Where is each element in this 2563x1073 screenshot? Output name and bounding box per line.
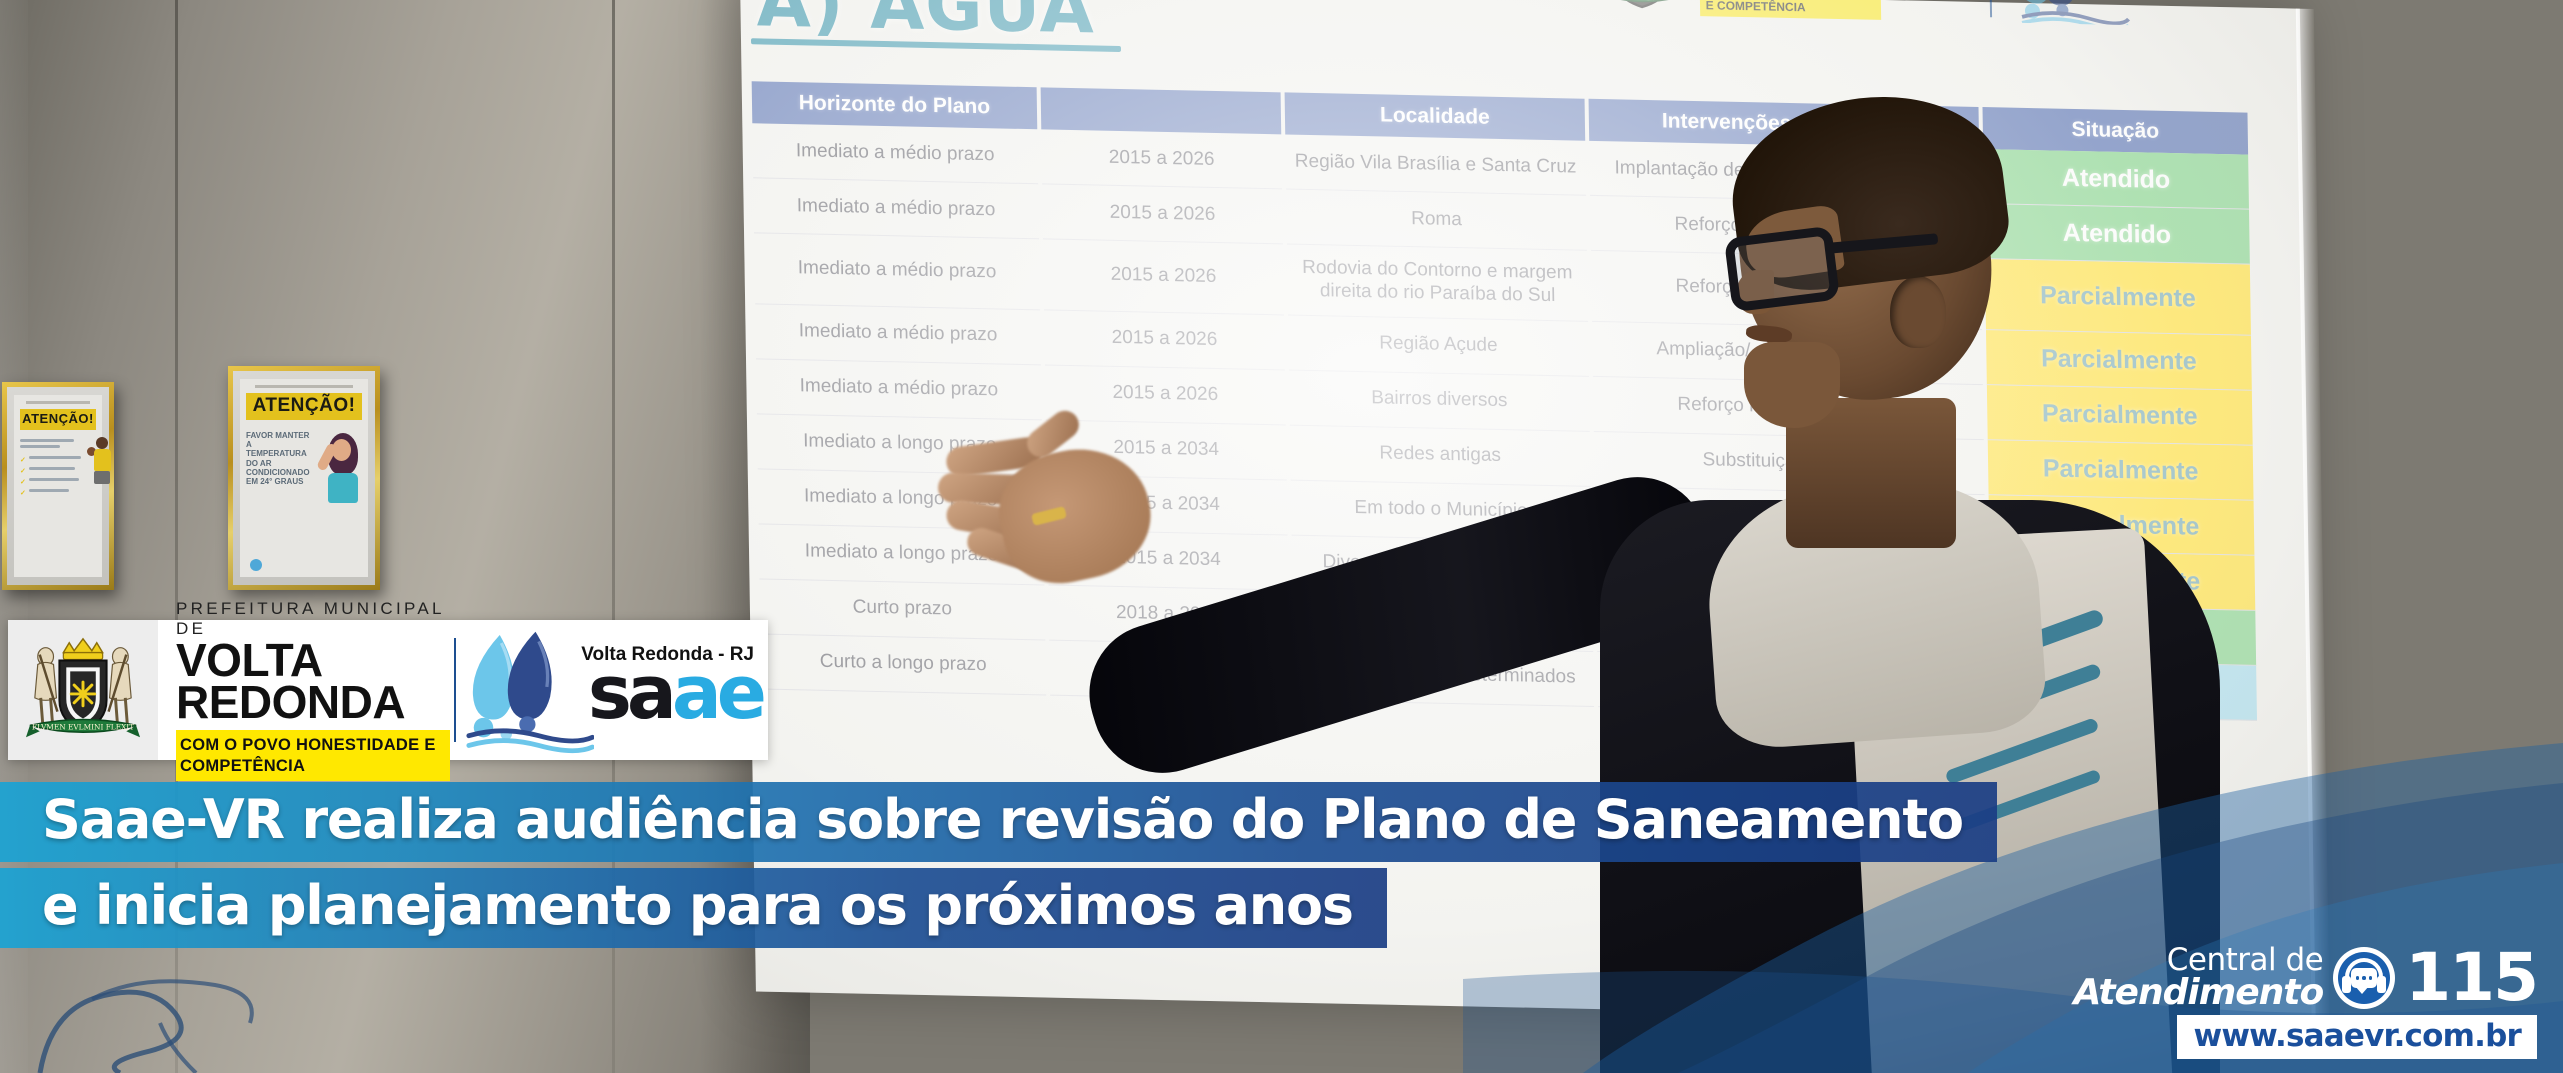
poster-2-title: ATENÇÃO! <box>246 393 362 420</box>
city-motto: COM O POVO HONESTIDADE E COMPETÊNCIA <box>176 730 450 781</box>
news-banner-image: ATENÇÃO! ✓ ✓ ✓ ✓ <box>0 0 2563 1073</box>
cell-horizonte: Curto a longo prazo <box>760 634 1046 695</box>
headline-line-1-text: Saae-VR realiza audiência sobre revisão … <box>42 788 1963 851</box>
presenter-glasses <box>1724 226 1840 313</box>
cell-periodo: 2015 a 2026 <box>1042 184 1283 244</box>
saae-logo-icon <box>2009 0 2130 25</box>
cell-localidade: Bairros diversos <box>1289 370 1590 431</box>
wall-poster-frame-2: ATENÇÃO! FAVOR MANTER A TEMPERATURA DO A… <box>228 366 380 590</box>
prefeitura-text-block: PREFEITURA MUNICIPAL DE VOLTA REDONDA CO… <box>158 599 450 782</box>
brand-logo-bar: FLVMEN EVLMINI FLEXIT PREFEITURA MUNICIP… <box>8 620 768 760</box>
headline-line-1: Saae-VR realiza audiência sobre revisão … <box>0 782 1997 862</box>
headline-line-2: e inicia planejamento para os próximos a… <box>0 868 1387 948</box>
website-url[interactable]: www.saaevr.com.br <box>2177 1015 2537 1059</box>
central-phone-number: 115 <box>2405 950 2537 1006</box>
cell-periodo: 2015 a 2026 <box>1043 239 1284 315</box>
headline-banner: Saae-VR realiza audiência sobre revisão … <box>0 782 2563 948</box>
table-header-horizonte: Horizonte do Plano <box>752 81 1038 129</box>
cell-periodo: 2015 a 2026 <box>1041 129 1282 189</box>
saae-wordmark: saae <box>588 664 762 723</box>
cell-horizonte: Imediato a médio prazo <box>754 233 1040 310</box>
prefeitura-label: PREFEITURA MUNICIPAL DE <box>176 599 450 639</box>
volta-redonda-crest-icon: FLVMEN EVLMINI FLEXIT <box>24 631 142 749</box>
cell-horizonte: Imediato a médio prazo <box>752 123 1038 184</box>
cell-horizonte: Imediato a médio prazo <box>753 178 1039 239</box>
central-atendimento-row: Central de Atendimento 115 <box>2073 946 2537 1010</box>
city-name-line1: VOLTA <box>176 639 450 681</box>
cell-localidade: Região Vila Brasília e Santa Cruz <box>1285 134 1586 195</box>
headset-support-icon <box>2333 947 2395 1009</box>
poster-2-subtitle: FAVOR MANTER A TEMPERATURA DO AR CONDICI… <box>246 431 312 486</box>
cell-localidade: Rodovia do Contorno e margem direita do … <box>1287 244 1588 321</box>
cell-localidade: Região Açude <box>1288 315 1589 376</box>
logo-divider <box>454 638 456 742</box>
poster-1-title: ATENÇÃO! <box>20 409 96 430</box>
table-header-localidade: Localidade <box>1285 92 1586 140</box>
saae-wordmark-dark: sa <box>588 650 672 736</box>
presenter-ear <box>1890 276 1946 348</box>
volta-redonda-crest-icon: FLVMEN <box>1600 0 1681 12</box>
city-name-line2: REDONDA <box>176 681 450 723</box>
presenter-hand <box>940 390 1170 590</box>
central-atendimento-words: Central de Atendimento <box>2073 946 2323 1010</box>
central-label-line2: Atendimento <box>2073 976 2323 1010</box>
cell-horizonte: Imediato a médio prazo <box>755 304 1041 365</box>
cell-localidade: Roma <box>1286 189 1587 250</box>
cell-periodo: 2015 a 2026 <box>1044 310 1285 370</box>
saae-logo-block: Volta Redonda - RJ saae <box>468 620 768 760</box>
wall-poster-frame-1: ATENÇÃO! ✓ ✓ ✓ ✓ <box>2 382 114 590</box>
table-header-periodo <box>1041 87 1282 134</box>
saae-droplet-icon <box>464 628 594 754</box>
headline-line-2-text: e inicia planejamento para os próximos a… <box>42 874 1353 937</box>
central-atendimento-block: Central de Atendimento 115 www.saaevr.co… <box>2073 946 2537 1059</box>
crest-container: FLVMEN EVLMINI FLEXIT <box>8 620 158 760</box>
saae-wordmark-blue: ae <box>672 650 762 736</box>
cell-localidade: Redes antigas <box>1290 425 1591 486</box>
crest-motto-text: FLVMEN EVLMINI FLEXIT <box>32 722 134 731</box>
slide-header-logos: FLVMEN PREFEITURA MUNICIPAL DE REDONDA C… <box>1600 0 2130 25</box>
